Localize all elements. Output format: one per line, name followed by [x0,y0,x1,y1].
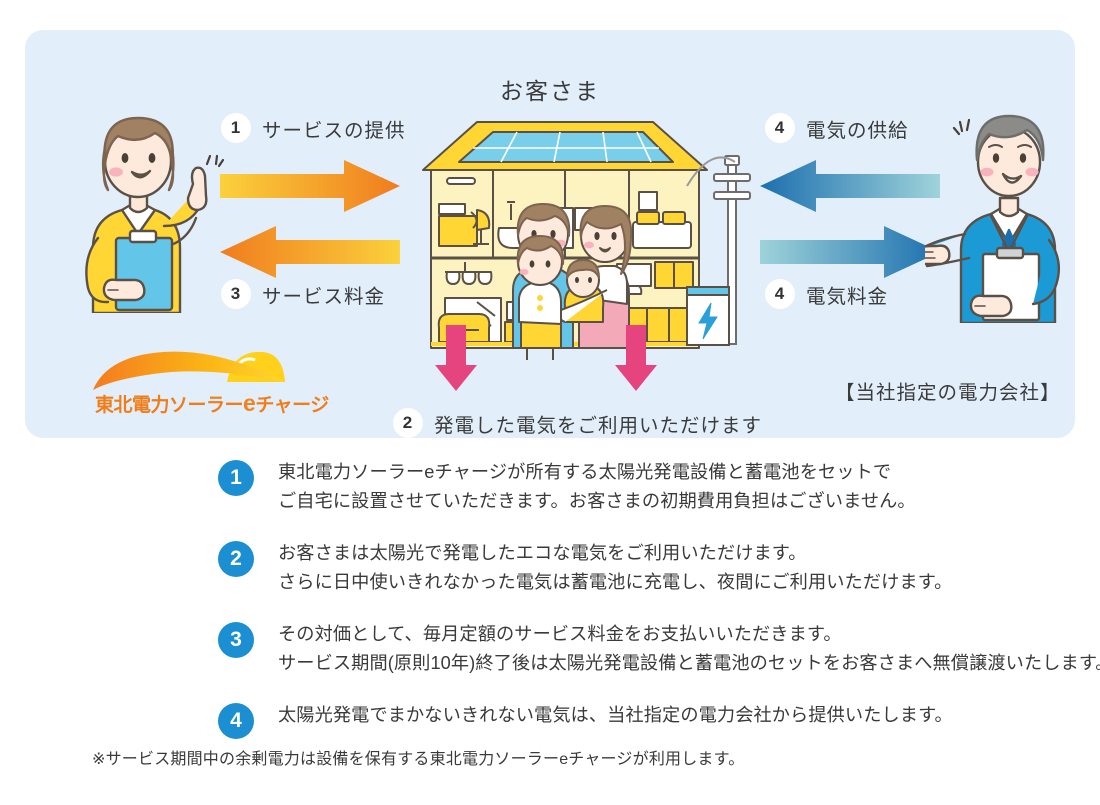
flow-label-service-provision: 1 サービスの提供 [221,113,406,143]
arrow-electricity-fee-right [760,226,940,278]
flow-label-text-4a: 電気の供給 [806,114,909,143]
service-staff-illustration [60,98,230,313]
flow-badge-4b: 4 [765,279,795,309]
flow-badge-3: 3 [221,279,251,309]
list-text-2: お客さまは太陽光で発電したエコな電気をご利用いただけます。 さらに日中使いきれな… [278,539,952,598]
list-line: お客さまは太陽光で発電したエコな電気をご利用いただけます。 [278,539,952,568]
provider-tag: 【当社指定の電力会社】 [835,376,1061,405]
power-wire [685,140,745,190]
logo-text-part1: 東北電力 [95,395,169,416]
list-line: その対価として、毎月定額のサービス料金をお支払いいただきます。 [278,620,1100,649]
list-badge-1: 1 [218,460,254,496]
arrow-service-fee-left [220,226,400,278]
arrow-electricity-supply-left [760,160,940,212]
list-line: 東北電力ソーラーeチャージが所有する太陽光発電設備と蓄電池をセットで [278,458,916,487]
explanation-list: 1 東北電力ソーラーeチャージが所有する太陽光発電設備と蓄電池をセットで ご自宅… [218,458,1078,761]
list-item: 1 東北電力ソーラーeチャージが所有する太陽光発電設備と蓄電池をセットで ご自宅… [218,458,1078,517]
arrow-service-provision-right [220,160,400,212]
battery-storage-illustration [685,285,731,347]
diagram-panel: お客さま [25,30,1075,438]
list-badge-3: 3 [218,622,254,658]
logo-text-part2: ソーラー [169,395,243,416]
list-text-1: 東北電力ソーラーeチャージが所有する太陽光発電設備と蓄電池をセットで ご自宅に設… [278,458,916,517]
footnote: ※サービス期間中の余剰電力は設備を保有する東北電力ソーラーeチャージが利用します… [92,745,744,769]
list-item: 4 太陽光発電でまかないきれない電気は、当社指定の電力会社から提供いたします。 [218,701,1078,739]
power-company-staff-illustration [925,98,1085,323]
flow-label-text-3: サービス料金 [262,280,385,309]
logo-text-part3: チャージ [255,395,328,416]
logo-text-e: e [243,390,255,416]
list-badge-2: 2 [218,541,254,577]
flow-label-service-fee: 3 サービス料金 [221,279,385,309]
flow-badge-4a: 4 [765,113,795,143]
flow-badge-2: 2 [393,408,423,438]
flow-label-text-2: 発電した電気をご利用いただけます [434,409,762,438]
list-line: さらに日中使いきれなかった電気は蓄電池に充電し、夜間にご利用いただけます。 [278,568,952,597]
list-line: ご自宅に設置させていただきます。お客さまの初期費用負担はございません。 [278,487,916,516]
list-text-4: 太陽光発電でまかないきれない電気は、当社指定の電力会社から提供いたします。 [278,701,953,730]
arrow-self-consumption-down-right [615,325,657,391]
list-line: サービス期間(原則10年)終了後は太陽光発電設備と蓄電池のセットをお客さまへ無償… [278,649,1100,678]
flow-label-text-1: サービスの提供 [262,114,406,143]
list-item: 3 その対価として、毎月定額のサービス料金をお支払いいただきます。 サービス期間… [218,620,1078,679]
list-item: 2 お客さまは太陽光で発電したエコな電気をご利用いただけます。 さらに日中使いき… [218,539,1078,598]
brand-logo: 東北電力ソーラーeチャージ [87,340,302,425]
flow-label-electricity-supply: 4 電気の供給 [765,113,909,143]
flow-label-self-consumption: 2 発電した電気をご利用いただけます [393,408,762,438]
arrow-self-consumption-down-left [435,325,477,391]
logo-wordmark: 東北電力ソーラーeチャージ [95,390,329,417]
list-line: 太陽光発電でまかないきれない電気は、当社指定の電力会社から提供いたします。 [278,701,953,730]
list-badge-4: 4 [218,703,254,739]
list-text-3: その対価として、毎月定額のサービス料金をお支払いいただきます。 サービス期間(原… [278,620,1100,679]
flow-badge-1: 1 [221,113,251,143]
flow-label-electricity-fee: 4 電気料金 [765,279,888,309]
flow-label-text-4b: 電気料金 [806,280,888,309]
